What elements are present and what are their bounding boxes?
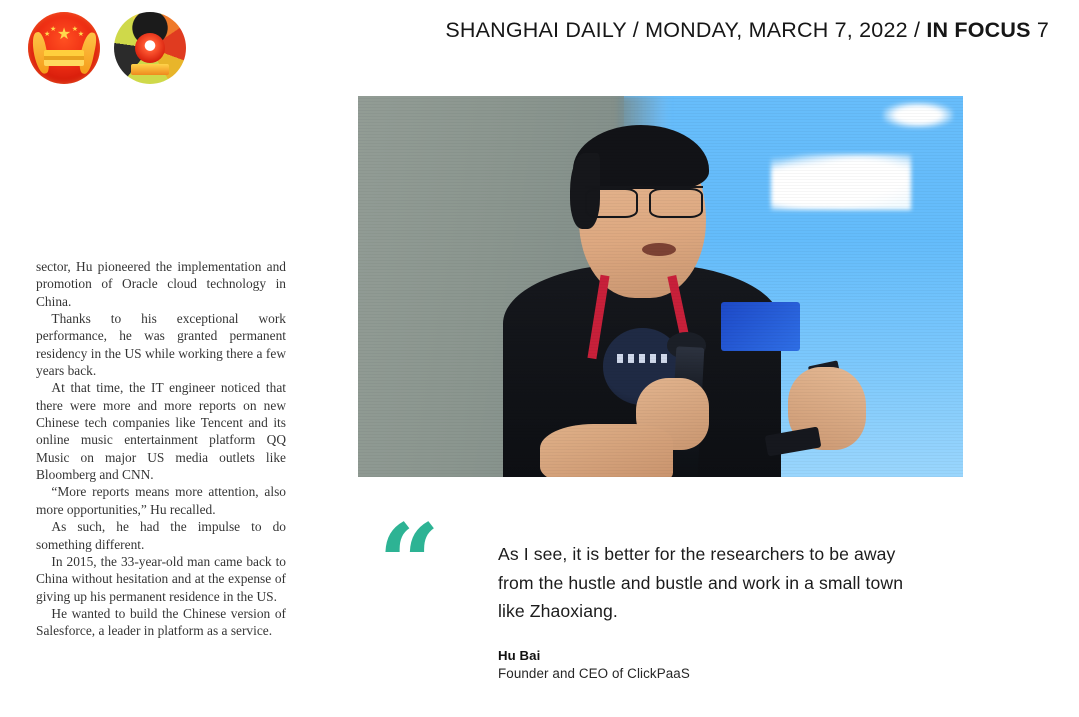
article-paragraph: At that time, the IT engineer noticed th… (36, 379, 286, 483)
photo-cloud (771, 154, 911, 210)
masthead: ★ ★ ★ ★ ★ SHANGHAI DAILY / MONDAY, MARCH… (0, 0, 1079, 96)
article-paragraph: In 2015, the 33-year-old man came back t… (36, 553, 286, 605)
photo-subject-arm-left (540, 424, 673, 477)
cppcc-emblem-icon (114, 12, 186, 84)
photo-cloud-secondary (883, 102, 953, 128)
tiananmen-gate-shape (44, 50, 84, 66)
photo-subject-mouth (642, 243, 675, 256)
publication-name: SHANGHAI DAILY (445, 18, 626, 42)
header-separator-2: / (908, 18, 927, 42)
page-number-value: 7 (1037, 18, 1049, 42)
article-paragraph: sector, Hu pioneered the implementation … (36, 258, 286, 310)
pull-quote-author-role: Founder and CEO of ClickPaaS (498, 666, 918, 681)
photo-subject-glasses (585, 186, 703, 215)
article-paragraph: “More reports means more attention, also… (36, 483, 286, 518)
pull-quote-body: As I see, it is better for the researche… (498, 540, 918, 681)
pull-quote-text: As I see, it is better for the researche… (498, 540, 918, 626)
section-name: IN FOCUS (926, 18, 1030, 42)
quotation-mark-icon: “ (378, 528, 436, 600)
page-number: 7 (1031, 18, 1049, 42)
national-emblem-of-china-icon: ★ ★ ★ ★ ★ (28, 12, 100, 84)
header-dateline: SHANGHAI DAILY / MONDAY, MARCH 7, 2022 /… (445, 18, 1049, 43)
header-separator-1: / (627, 18, 646, 42)
small-star-icon: ★ (50, 26, 56, 33)
small-stars-group: ★ ★ ★ ★ (42, 25, 86, 47)
emblem-group: ★ ★ ★ ★ ★ (28, 12, 186, 84)
article-body-column: sector, Hu pioneered the implementation … (36, 258, 286, 710)
article-photo (358, 96, 963, 477)
photo-badge-text (617, 354, 667, 363)
photo-shirt-logo (721, 302, 800, 352)
article-paragraph: As such, he had the impulse to do someth… (36, 518, 286, 553)
article-paragraph: Thanks to his exceptional work performan… (36, 310, 286, 379)
cppcc-emblem-center (135, 33, 165, 63)
small-star-icon: ★ (78, 31, 84, 38)
pull-quote-author-name: Hu Bai (498, 648, 918, 663)
article-paragraph: He wanted to build the Chinese version o… (36, 605, 286, 640)
issue-date: MONDAY, MARCH 7, 2022 (645, 18, 908, 42)
cppcc-emblem-base (131, 64, 169, 75)
